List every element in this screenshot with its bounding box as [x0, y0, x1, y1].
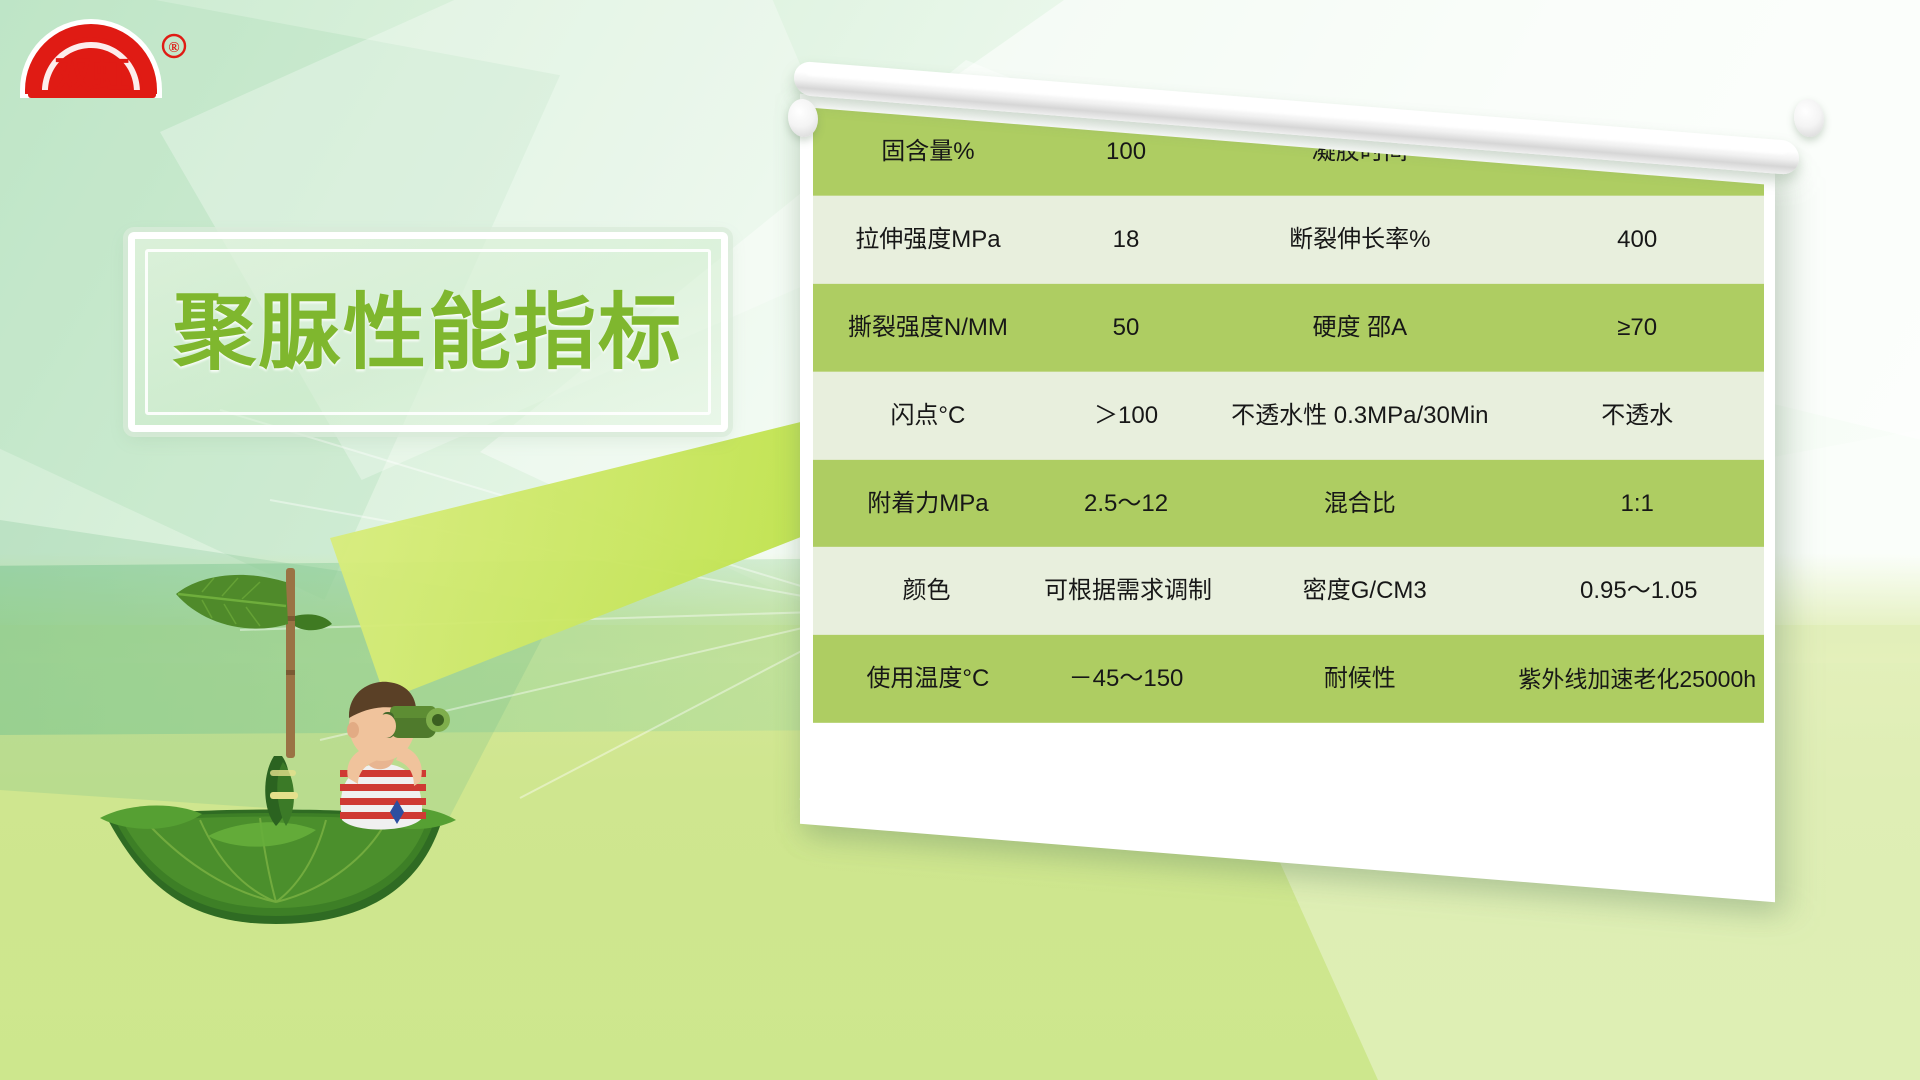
table-cell: 0.95～1.05	[1513, 577, 1764, 605]
screen-panel: 固含量%100凝胶时间<10S拉伸强度MPa18断裂伸长率%400撕裂强度N/M…	[800, 94, 1775, 902]
table-cell: 拉伸强度MPa	[813, 226, 1043, 254]
table-cell: 闪点°C	[813, 402, 1043, 430]
bamboo-mast	[286, 568, 295, 758]
table-row: 撕裂强度N/MM50硬度 邵A≥70	[813, 284, 1764, 372]
promo-banner: 双虹 ® 聚脲性能指标	[0, 0, 1920, 1080]
table-cell: 不透水	[1510, 402, 1764, 430]
table-cell: 耐候性	[1209, 665, 1510, 693]
table-cell: 100	[1043, 138, 1209, 166]
table-cell: ≥70	[1510, 314, 1764, 342]
table-cell: 1:1	[1510, 489, 1764, 517]
table-row: 拉伸强度MPa18断裂伸长率%400	[813, 196, 1764, 284]
table-cell: 颜色	[813, 577, 1040, 605]
table-cell: 不透水性 0.3MPa/30Min	[1209, 402, 1510, 430]
table-cell: 可根据需求调制	[1040, 577, 1216, 605]
leaf-sail	[176, 575, 288, 629]
table-cell: 18	[1043, 226, 1209, 254]
logo-characters: 双虹	[54, 53, 130, 97]
table-cell: 使用温度°C	[813, 665, 1043, 693]
table-cell: ＞100	[1043, 402, 1209, 430]
specs-table: 固含量%100凝胶时间<10S拉伸强度MPa18断裂伸长率%400撕裂强度N/M…	[813, 108, 1764, 888]
table-cell: 50	[1043, 314, 1209, 342]
table-cell: 混合比	[1209, 489, 1510, 517]
boy-with-binoculars	[340, 682, 450, 830]
leaf-boat-icon	[90, 520, 480, 940]
table-cell: 撕裂强度N/MM	[813, 314, 1043, 342]
table-row: 闪点°C＞100不透水性 0.3MPa/30Min不透水	[813, 371, 1764, 459]
table-cell: 断裂伸长率%	[1209, 226, 1510, 254]
table-cell: 2.5～12	[1043, 489, 1209, 517]
table-cell: 400	[1510, 226, 1764, 254]
brand-logo[interactable]: 双虹 ®	[16, 16, 192, 108]
table-row: 附着力MPa2.5～12混合比1:1	[813, 459, 1764, 547]
rainbow-arch-logo-icon: 双虹 ®	[16, 16, 192, 108]
title-frame: 聚脲性能指标	[128, 232, 728, 432]
table-cell: 硬度 邵A	[1209, 314, 1510, 342]
trademark-icon: ®	[168, 40, 179, 56]
table-cell: －45～150	[1043, 665, 1209, 693]
table-cell: 紫外线加速老化25000h	[1510, 666, 1764, 692]
projection-screen: 固含量%100凝胶时间<10S拉伸强度MPa18断裂伸长率%400撕裂强度N/M…	[800, 95, 1810, 885]
table-cell: 附着力MPa	[813, 489, 1043, 517]
table-cell: 密度G/CM3	[1216, 577, 1513, 605]
table-row: 使用温度°C－45～150耐候性紫外线加速老化25000h	[813, 635, 1764, 723]
table-cell: 固含量%	[813, 138, 1043, 166]
page-title: 聚脲性能指标	[173, 291, 683, 374]
table-row: 颜色可根据需求调制密度G/CM30.95～1.05	[813, 547, 1764, 635]
leaf-boat-illustration	[90, 520, 480, 940]
leaf-flag	[295, 614, 332, 630]
